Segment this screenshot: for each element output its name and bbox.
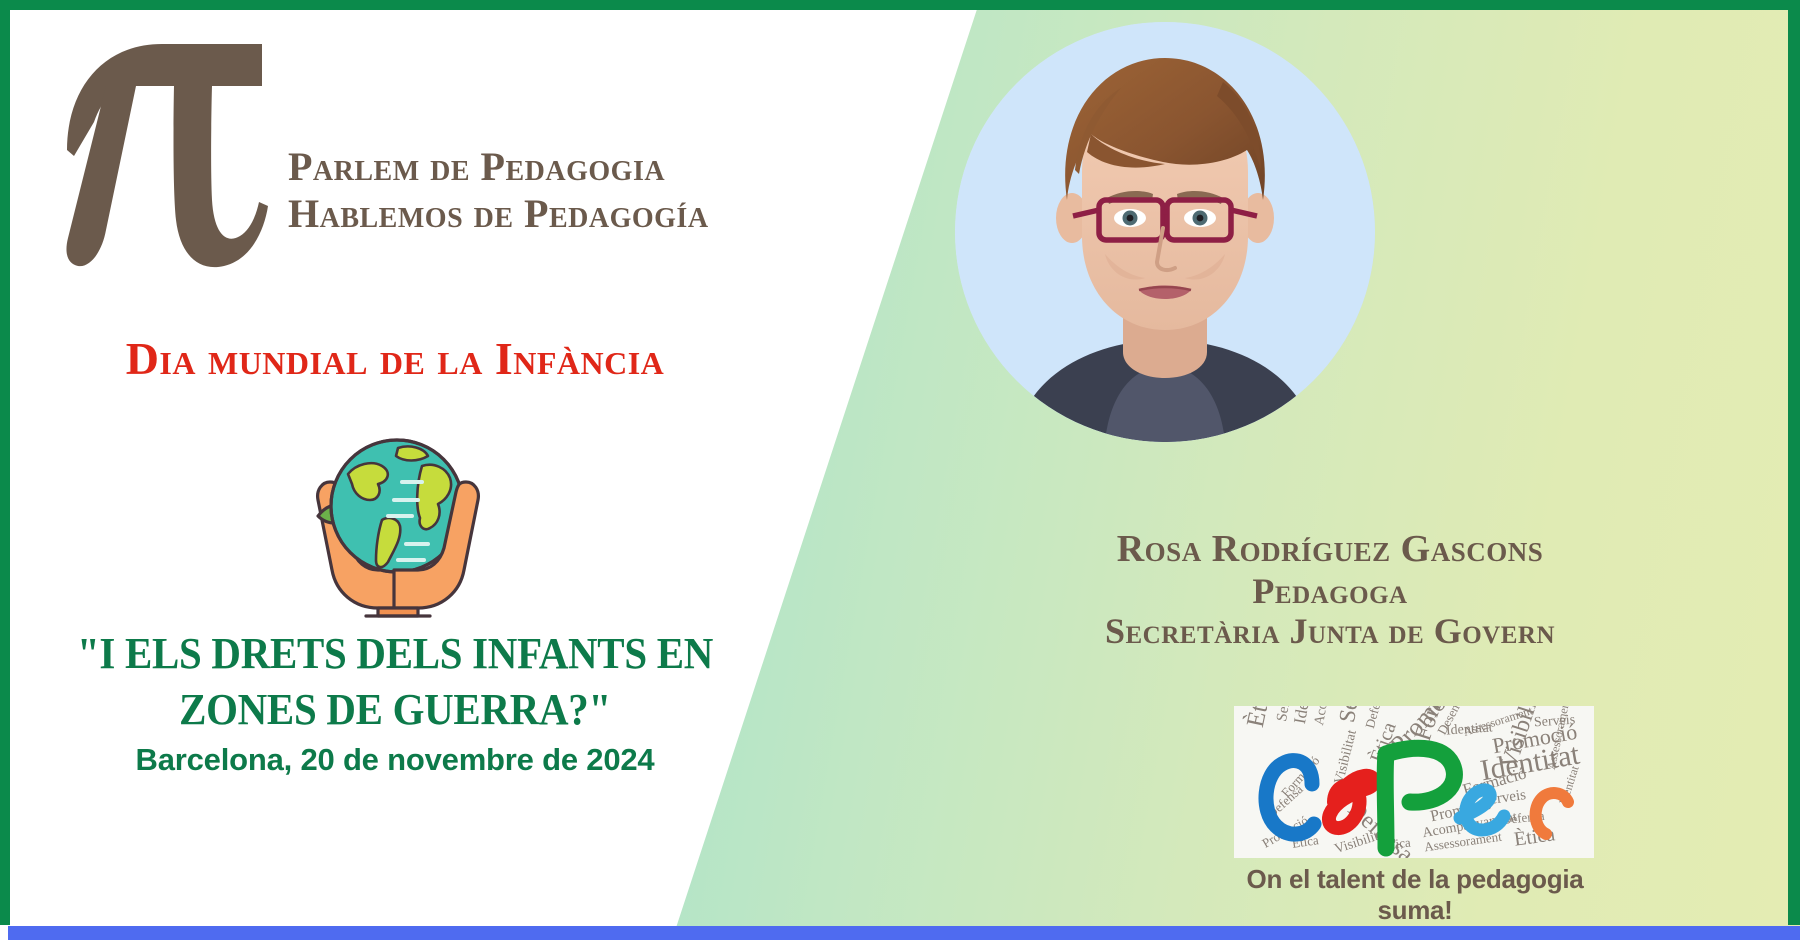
talk-title: "I ELS DRETS DELS INFANTS EN ZONES DE GU… [28, 626, 763, 739]
border-top [0, 0, 1800, 10]
speaker-portrait-photo [955, 22, 1375, 442]
copec-tagline: On el talent de la pedagogia suma! [1220, 864, 1610, 926]
pi-symbol-icon [62, 30, 282, 278]
talk-title-line-1: "I ELS DRETS DELS INFANTS EN [28, 626, 763, 682]
brand-line-catalan: Parlem de Pedagogia [288, 143, 709, 190]
talk-date: Barcelona, 20 de novembre de 2024 [0, 742, 790, 778]
speaker-role: Pedagoga [860, 571, 1800, 611]
speaker-position: Secretària Junta de Govern [860, 611, 1800, 651]
talk-title-line-2: ZONES DE GUERRA?" [28, 682, 763, 738]
border-left [0, 0, 10, 925]
brand-header: Parlem de Pedagogia Hablemos de Pedagogí… [62, 30, 709, 278]
poster-canvas: Parlem de Pedagogia Hablemos de Pedagogí… [0, 0, 1800, 940]
speaker-name: Rosa Rodríguez Gascons [860, 528, 1800, 571]
copec-wordcloud-logo[interactable]: Ètica Serveis Identitat Acompanyament Se… [1220, 706, 1610, 918]
border-bottom [8, 926, 1800, 940]
copec-letters [1234, 706, 1594, 858]
brand-text-lines: Parlem de Pedagogia Hablemos de Pedagogí… [288, 71, 709, 237]
event-title: Dia mundial de la Infància [0, 332, 790, 385]
speaker-details: Rosa Rodríguez Gascons Pedagoga Secretàr… [860, 528, 1800, 651]
brand-line-spanish: Hablemos de Pedagogía [288, 190, 709, 237]
right-column: Rosa Rodríguez Gascons Pedagoga Secretàr… [860, 0, 1800, 940]
hands-holding-globe-icon [282, 420, 512, 620]
border-right [1788, 0, 1800, 925]
copec-logo-mark: Ètica Serveis Identitat Acompanyament Se… [1234, 706, 1594, 858]
left-column: Parlem de Pedagogia Hablemos de Pedagogí… [0, 0, 860, 940]
